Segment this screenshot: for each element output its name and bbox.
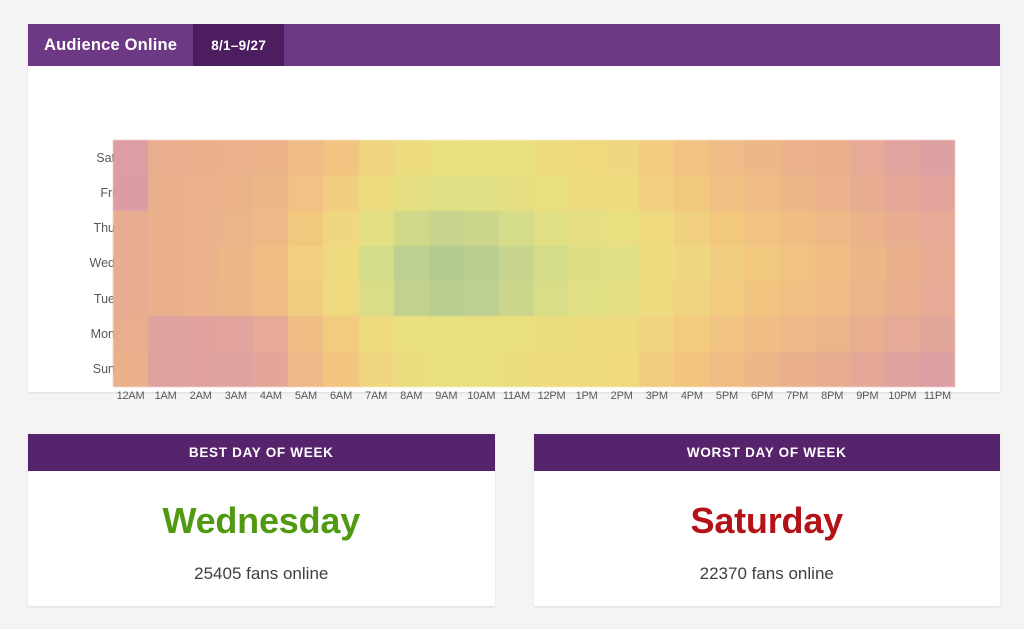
- heatmap-cell[interactable]: [815, 140, 850, 175]
- heatmap-cell[interactable]: [394, 175, 429, 210]
- heatmap-cell[interactable]: [744, 316, 779, 351]
- heatmap-cell[interactable]: [323, 316, 358, 351]
- heatmap-cell[interactable]: [780, 316, 815, 351]
- stat-cards: BEST DAY OF WEEK Wednesday 25405 fans on…: [28, 434, 1000, 606]
- heatmap-cell[interactable]: [253, 175, 288, 210]
- heatmap-cell[interactable]: [920, 246, 955, 281]
- heatmap-cell[interactable]: [323, 175, 358, 210]
- heatmap-cell[interactable]: [183, 175, 218, 210]
- heatmap-cell[interactable]: [639, 281, 674, 316]
- heatmap-y-label: Sat: [28, 140, 126, 175]
- heatmap-cell[interactable]: [253, 352, 288, 387]
- panel-header: Audience Online 8/1–9/27: [28, 24, 1000, 66]
- heatmap-cell[interactable]: [429, 175, 464, 210]
- heatmap-cell[interactable]: [885, 316, 920, 351]
- heatmap-cell[interactable]: [323, 140, 358, 175]
- heatmap-x-label: 9PM: [850, 390, 885, 402]
- heatmap-x-axis: 12AM1AM2AM3AM4AM5AM6AM7AM8AM9AM10AM11AM1…: [113, 390, 955, 402]
- heatmap-cell[interactable]: [429, 246, 464, 281]
- heatmap-cell[interactable]: [534, 352, 569, 387]
- heatmap-cell[interactable]: [499, 281, 534, 316]
- heatmap-cell[interactable]: [604, 316, 639, 351]
- worst-day-card-header: WORST DAY OF WEEK: [534, 434, 1001, 471]
- heatmap-cell[interactable]: [709, 175, 744, 210]
- heatmap-cell[interactable]: [218, 316, 253, 351]
- heatmap-cell[interactable]: [464, 246, 499, 281]
- heatmap-cell[interactable]: [288, 175, 323, 210]
- heatmap-cell[interactable]: [674, 246, 709, 281]
- heatmap-x-label: 12AM: [113, 390, 148, 402]
- heatmap-cell[interactable]: [850, 352, 885, 387]
- heatmap-x-label: 7AM: [359, 390, 394, 402]
- heatmap-cell[interactable]: [499, 316, 534, 351]
- heatmap-cell[interactable]: [885, 211, 920, 246]
- heatmap-cell[interactable]: [288, 316, 323, 351]
- heatmap-cell[interactable]: [288, 281, 323, 316]
- heatmap-cell[interactable]: [850, 211, 885, 246]
- heatmap-cell[interactable]: [780, 246, 815, 281]
- heatmap-x-label: 11AM: [499, 390, 534, 402]
- heatmap-cell[interactable]: [815, 316, 850, 351]
- heatmap-cell[interactable]: [885, 175, 920, 210]
- heatmap-cell[interactable]: [288, 211, 323, 246]
- heatmap-cell[interactable]: [534, 316, 569, 351]
- heatmap-x-label: 10AM: [464, 390, 499, 402]
- heatmap-cell[interactable]: [709, 352, 744, 387]
- heatmap-cell[interactable]: [780, 211, 815, 246]
- heatmap-cell[interactable]: [394, 352, 429, 387]
- heatmap-cell[interactable]: [815, 211, 850, 246]
- heatmap-cell[interactable]: [709, 211, 744, 246]
- heatmap-y-label: Sun: [28, 352, 126, 387]
- heatmap-cell[interactable]: [113, 246, 148, 281]
- heatmap-cell[interactable]: [920, 352, 955, 387]
- heatmap-cell[interactable]: [674, 281, 709, 316]
- heatmap-x-label: 2AM: [183, 390, 218, 402]
- heatmap-cell[interactable]: [394, 211, 429, 246]
- heatmap-cell[interactable]: [780, 140, 815, 175]
- heatmap-cell[interactable]: [253, 281, 288, 316]
- audience-online-page: Audience Online 8/1–9/27 SatFriThuWedTue…: [0, 0, 1024, 629]
- heatmap-cell[interactable]: [464, 352, 499, 387]
- heatmap-cell[interactable]: [429, 352, 464, 387]
- heatmap-x-label: 11PM: [920, 390, 955, 402]
- heatmap-x-label: 5AM: [288, 390, 323, 402]
- date-range-badge[interactable]: 8/1–9/27: [193, 24, 284, 66]
- heatmap-cell[interactable]: [359, 140, 394, 175]
- heatmap-cell[interactable]: [569, 316, 604, 351]
- heatmap-cell[interactable]: [148, 281, 183, 316]
- heatmap-cell[interactable]: [499, 246, 534, 281]
- heatmap-cell[interactable]: [744, 211, 779, 246]
- heatmap-cell[interactable]: [709, 140, 744, 175]
- heatmap-cell[interactable]: [148, 140, 183, 175]
- heatmap-cell[interactable]: [534, 175, 569, 210]
- heatmap-x-label: 9AM: [429, 390, 464, 402]
- heatmap-cell[interactable]: [499, 140, 534, 175]
- heatmap-cell[interactable]: [359, 246, 394, 281]
- heatmap-cell[interactable]: [323, 352, 358, 387]
- heatmap-cell[interactable]: [780, 352, 815, 387]
- heatmap-cell[interactable]: [639, 316, 674, 351]
- heatmap-cell[interactable]: [113, 352, 148, 387]
- heatmap-cell[interactable]: [815, 352, 850, 387]
- heatmap-cell[interactable]: [218, 246, 253, 281]
- heatmap-cell[interactable]: [815, 281, 850, 316]
- heatmap-cell[interactable]: [885, 140, 920, 175]
- heatmap-cell[interactable]: [920, 211, 955, 246]
- worst-day-value: Saturday: [534, 500, 1001, 542]
- heatmap-cell[interactable]: [569, 281, 604, 316]
- heatmap-cell[interactable]: [183, 246, 218, 281]
- heatmap-cell[interactable]: [850, 316, 885, 351]
- heatmap-cell[interactable]: [639, 352, 674, 387]
- heatmap-cell[interactable]: [183, 352, 218, 387]
- page-title: Audience Online: [28, 24, 193, 66]
- heatmap-cell[interactable]: [359, 316, 394, 351]
- heatmap-cell[interactable]: [429, 281, 464, 316]
- heatmap-x-label: 4PM: [674, 390, 709, 402]
- heatmap-cell[interactable]: [113, 316, 148, 351]
- heatmap-cell[interactable]: [569, 175, 604, 210]
- heatmap-cell[interactable]: [113, 175, 148, 210]
- audience-online-panel: Audience Online 8/1–9/27 SatFriThuWedTue…: [28, 24, 1000, 392]
- heatmap-cell[interactable]: [534, 281, 569, 316]
- heatmap-cell[interactable]: [604, 352, 639, 387]
- heatmap-cell[interactable]: [920, 281, 955, 316]
- heatmap-cell[interactable]: [429, 140, 464, 175]
- heatmap-x-label: 8PM: [815, 390, 850, 402]
- heatmap-chart: SatFriThuWedTueMonSun 12AM1AM2AM3AM4AM5A…: [28, 66, 1000, 392]
- heatmap-cell[interactable]: [639, 140, 674, 175]
- heatmap-cell[interactable]: [148, 175, 183, 210]
- heatmap-cell[interactable]: [394, 140, 429, 175]
- heatmap-cell[interactable]: [534, 246, 569, 281]
- heatmap-cell[interactable]: [569, 246, 604, 281]
- heatmap-x-label: 1PM: [569, 390, 604, 402]
- heatmap-cell[interactable]: [885, 352, 920, 387]
- heatmap-cell[interactable]: [359, 175, 394, 210]
- heatmap-cell[interactable]: [569, 352, 604, 387]
- heatmap-cell[interactable]: [639, 175, 674, 210]
- heatmap-y-label: Mon: [28, 316, 126, 351]
- heatmap-cell[interactable]: [780, 281, 815, 316]
- heatmap-cell[interactable]: [604, 281, 639, 316]
- heatmap-cell[interactable]: [148, 211, 183, 246]
- heatmap-cell[interactable]: [394, 281, 429, 316]
- heatmap-x-label: 8AM: [394, 390, 429, 402]
- heatmap-x-label: 6PM: [744, 390, 779, 402]
- heatmap-cell[interactable]: [218, 140, 253, 175]
- heatmap-cell[interactable]: [464, 140, 499, 175]
- heatmap-cell[interactable]: [183, 281, 218, 316]
- best-day-card: BEST DAY OF WEEK Wednesday 25405 fans on…: [28, 434, 495, 606]
- heatmap-cell[interactable]: [288, 246, 323, 281]
- best-day-subtitle: 25405 fans online: [28, 564, 495, 584]
- heatmap-cell[interactable]: [113, 281, 148, 316]
- heatmap-cell[interactable]: [604, 211, 639, 246]
- heatmap-cell[interactable]: [674, 175, 709, 210]
- heatmap-grid[interactable]: [113, 140, 955, 387]
- heatmap-cell[interactable]: [744, 352, 779, 387]
- heatmap-cell[interactable]: [815, 175, 850, 210]
- worst-day-card: WORST DAY OF WEEK Saturday 22370 fans on…: [534, 434, 1001, 606]
- heatmap-cell[interactable]: [639, 211, 674, 246]
- heatmap-cell[interactable]: [183, 140, 218, 175]
- heatmap-cell[interactable]: [780, 175, 815, 210]
- heatmap-cell[interactable]: [709, 281, 744, 316]
- heatmap-cell[interactable]: [253, 316, 288, 351]
- heatmap-cell[interactable]: [534, 140, 569, 175]
- heatmap-cell[interactable]: [429, 316, 464, 351]
- heatmap-cell[interactable]: [639, 246, 674, 281]
- heatmap-cell[interactable]: [253, 211, 288, 246]
- heatmap-cell[interactable]: [148, 316, 183, 351]
- heatmap-cell[interactable]: [113, 140, 148, 175]
- heatmap-cell[interactable]: [323, 281, 358, 316]
- heatmap-cell[interactable]: [429, 211, 464, 246]
- heatmap-cell[interactable]: [709, 316, 744, 351]
- heatmap-cell[interactable]: [253, 140, 288, 175]
- heatmap-y-label: Fri: [28, 175, 126, 210]
- heatmap-cell[interactable]: [674, 316, 709, 351]
- heatmap-cell[interactable]: [499, 211, 534, 246]
- heatmap-cell[interactable]: [850, 140, 885, 175]
- heatmap-x-label: 3PM: [639, 390, 674, 402]
- heatmap-cell[interactable]: [148, 246, 183, 281]
- heatmap-cell[interactable]: [674, 352, 709, 387]
- heatmap-cell[interactable]: [288, 352, 323, 387]
- heatmap-cell[interactable]: [744, 175, 779, 210]
- heatmap-cell[interactable]: [744, 246, 779, 281]
- heatmap-cell[interactable]: [569, 140, 604, 175]
- heatmap-cell[interactable]: [288, 140, 323, 175]
- heatmap-cell[interactable]: [499, 175, 534, 210]
- heatmap-y-label: Wed: [28, 246, 126, 281]
- heatmap-cell[interactable]: [464, 175, 499, 210]
- heatmap-x-label: 10PM: [885, 390, 920, 402]
- heatmap-x-label: 3AM: [218, 390, 253, 402]
- heatmap-cell[interactable]: [885, 246, 920, 281]
- heatmap-cell[interactable]: [323, 246, 358, 281]
- heatmap-x-label: 7PM: [780, 390, 815, 402]
- heatmap-cell[interactable]: [323, 211, 358, 246]
- heatmap-cell[interactable]: [604, 246, 639, 281]
- heatmap-cell[interactable]: [218, 352, 253, 387]
- heatmap-y-label: Thu: [28, 211, 126, 246]
- heatmap-cell[interactable]: [218, 211, 253, 246]
- heatmap-cell[interactable]: [359, 281, 394, 316]
- heatmap-cell[interactable]: [850, 246, 885, 281]
- heatmap-cell[interactable]: [744, 140, 779, 175]
- worst-day-subtitle: 22370 fans online: [534, 564, 1001, 584]
- heatmap-cell[interactable]: [674, 140, 709, 175]
- heatmap-cell[interactable]: [394, 316, 429, 351]
- heatmap-x-label: 6AM: [323, 390, 358, 402]
- heatmap-cell[interactable]: [253, 246, 288, 281]
- heatmap-cell[interactable]: [534, 211, 569, 246]
- heatmap-cell[interactable]: [920, 175, 955, 210]
- best-day-value: Wednesday: [28, 500, 495, 542]
- heatmap-cell[interactable]: [604, 140, 639, 175]
- heatmap-cell[interactable]: [499, 352, 534, 387]
- heatmap-cell[interactable]: [569, 211, 604, 246]
- heatmap-y-label: Tue: [28, 281, 126, 316]
- heatmap-cell[interactable]: [709, 246, 744, 281]
- best-day-card-header: BEST DAY OF WEEK: [28, 434, 495, 471]
- heatmap-x-label: 2PM: [604, 390, 639, 402]
- heatmap-x-label: 12PM: [534, 390, 569, 402]
- heatmap-cell[interactable]: [359, 352, 394, 387]
- heatmap-y-axis: SatFriThuWedTueMonSun: [28, 140, 126, 387]
- heatmap-cell[interactable]: [464, 316, 499, 351]
- heatmap-cell[interactable]: [359, 211, 394, 246]
- heatmap-cell[interactable]: [464, 281, 499, 316]
- heatmap-cell[interactable]: [218, 281, 253, 316]
- heatmap-cell[interactable]: [218, 175, 253, 210]
- heatmap-x-label: 5PM: [709, 390, 744, 402]
- heatmap-cell[interactable]: [850, 281, 885, 316]
- heatmap-cell[interactable]: [885, 281, 920, 316]
- heatmap-cell[interactable]: [113, 211, 148, 246]
- heatmap-cell[interactable]: [183, 211, 218, 246]
- heatmap-cell[interactable]: [920, 140, 955, 175]
- heatmap-cell[interactable]: [464, 211, 499, 246]
- heatmap-cell[interactable]: [148, 352, 183, 387]
- heatmap-cell[interactable]: [850, 175, 885, 210]
- heatmap-cell[interactable]: [815, 246, 850, 281]
- heatmap-cell[interactable]: [674, 211, 709, 246]
- heatmap-cell[interactable]: [183, 316, 218, 351]
- heatmap-cell[interactable]: [604, 175, 639, 210]
- heatmap-cell[interactable]: [744, 281, 779, 316]
- heatmap-x-label: 4AM: [253, 390, 288, 402]
- heatmap-x-label: 1AM: [148, 390, 183, 402]
- heatmap-cell[interactable]: [920, 316, 955, 351]
- heatmap-cell[interactable]: [394, 246, 429, 281]
